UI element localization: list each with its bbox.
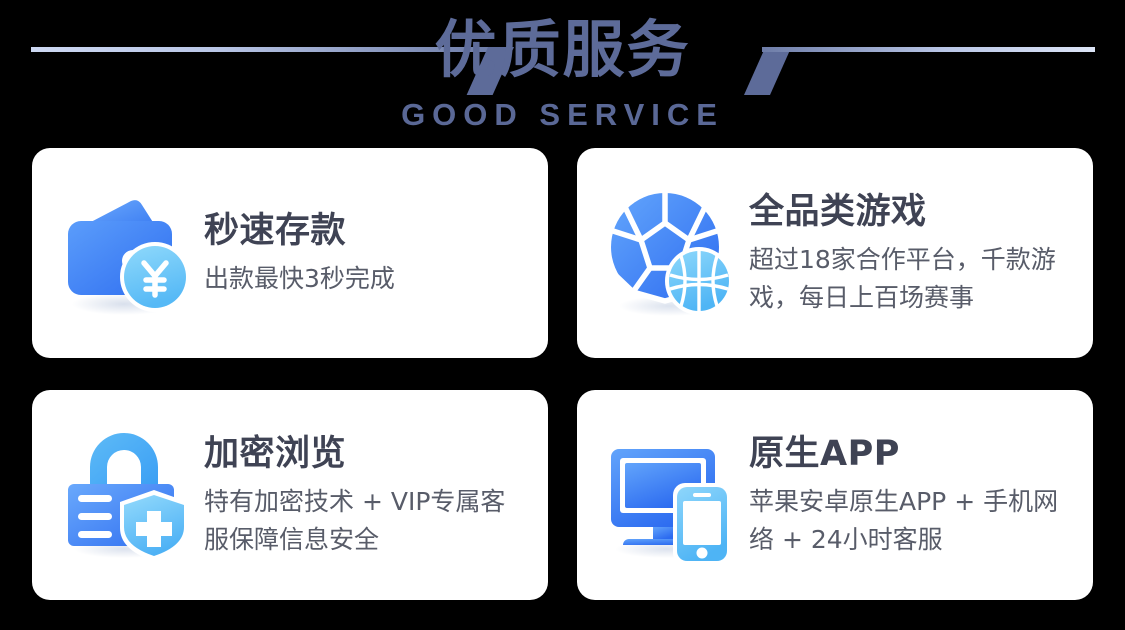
card-title: 加密浏览 — [204, 431, 530, 477]
card-text-block: 原生APP 苹果安卓原生APP + 手机网络 + 24小时客服 — [739, 431, 1075, 559]
card-title: 秒速存款 — [204, 208, 530, 254]
card-title: 全品类游戏 — [749, 189, 1075, 235]
wallet-yen-icon — [58, 185, 194, 321]
monitor-phone-icon — [603, 427, 739, 563]
service-card[interactable]: 秒速存款 出款最快3秒完成 — [32, 148, 548, 358]
card-text-block: 全品类游戏 超过18家合作平台，千款游戏，每日上百场赛事 — [739, 189, 1075, 317]
card-description: 出款最快3秒完成 — [204, 260, 530, 298]
card-description: 特有加密技术 + VIP专属客服保障信息安全 — [204, 483, 530, 559]
lock-shield-icon — [58, 427, 194, 563]
service-card[interactable]: 全品类游戏 超过18家合作平台，千款游戏，每日上百场赛事 — [577, 148, 1093, 358]
header-rule-right — [762, 47, 1095, 52]
service-card[interactable]: 加密浏览 特有加密技术 + VIP专属客服保障信息安全 — [32, 390, 548, 600]
card-description: 苹果安卓原生APP + 手机网络 + 24小时客服 — [749, 483, 1075, 559]
card-description: 超过18家合作平台，千款游戏，每日上百场赛事 — [749, 241, 1075, 317]
page-subtitle: GOOD SERVICE — [0, 97, 1125, 133]
service-card-grid: 秒速存款 出款最快3秒完成 — [32, 148, 1093, 600]
card-text-block: 加密浏览 特有加密技术 + VIP专属客服保障信息安全 — [194, 431, 530, 559]
page-header: 优质服务 GOOD SERVICE — [0, 0, 1125, 143]
card-title: 原生APP — [749, 431, 1075, 477]
service-card[interactable]: 原生APP 苹果安卓原生APP + 手机网络 + 24小时客服 — [577, 390, 1093, 600]
soccer-basketball-icon — [603, 185, 739, 321]
card-text-block: 秒速存款 出款最快3秒完成 — [194, 208, 530, 298]
